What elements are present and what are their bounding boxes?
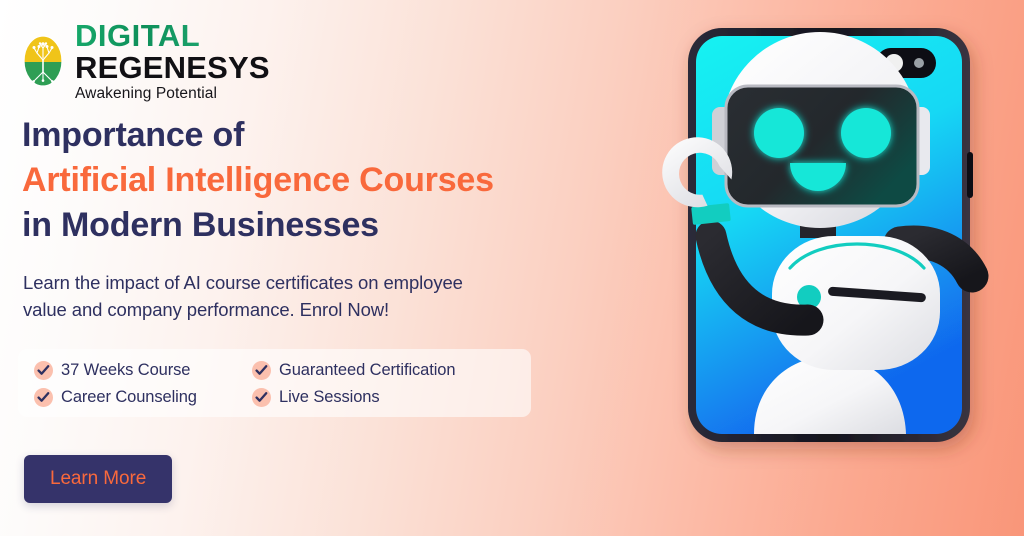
check-icon <box>252 361 271 380</box>
check-icon <box>34 388 53 407</box>
subtitle: Learn the impact of AI course certificat… <box>23 270 463 324</box>
logo-word-regenesys: REGENESYS <box>75 52 270 83</box>
check-icon <box>34 361 53 380</box>
robot-face-visor-icon <box>726 86 918 206</box>
check-icon <box>252 388 271 407</box>
feature-label: 37 Weeks Course <box>61 361 190 380</box>
headline-line-1: Importance of <box>22 116 244 154</box>
feature-label: Live Sessions <box>279 388 380 407</box>
page-title: Importance of Artificial Intelligence Co… <box>22 113 494 248</box>
subtitle-line-2: value and company performance. Enrol Now… <box>23 299 389 320</box>
regenesys-tree-shield-icon <box>20 33 66 89</box>
list-item: Live Sessions <box>252 384 531 411</box>
feature-label: Career Counseling <box>61 388 197 407</box>
brand-logo[interactable]: DIGITAL REGENESYS Awakening Potential <box>20 20 270 102</box>
hero-illustration <box>604 0 1024 536</box>
subtitle-line-1: Learn the impact of AI course certificat… <box>23 272 463 293</box>
headline-line-3: in Modern Businesses <box>22 206 379 244</box>
feature-label: Guaranteed Certification <box>279 361 455 380</box>
feature-list: 37 Weeks Course Guaranteed Certification… <box>18 349 531 417</box>
learn-more-button[interactable]: Learn More <box>24 455 172 503</box>
list-item: 37 Weeks Course <box>34 357 252 384</box>
list-item: Guaranteed Certification <box>252 357 531 384</box>
robot-torso <box>772 236 940 370</box>
promo-banner: DIGITAL REGENESYS Awakening Potential Im… <box>0 0 1024 536</box>
logo-word-digital: DIGITAL <box>75 20 270 51</box>
logo-tagline: Awakening Potential <box>75 86 270 102</box>
headline-line-2: Artificial Intelligence Courses <box>22 161 494 199</box>
list-item: Career Counseling <box>34 384 252 411</box>
